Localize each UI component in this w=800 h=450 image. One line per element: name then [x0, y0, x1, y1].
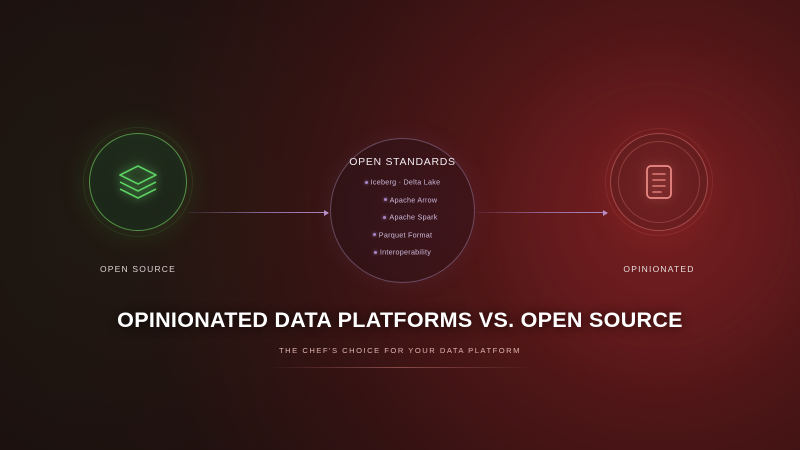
list-item[interactable]: Parquet Format — [331, 230, 474, 240]
bullet-icon — [383, 216, 386, 219]
divider — [270, 367, 530, 368]
list-item[interactable]: Apache Spark — [331, 212, 474, 222]
list-item[interactable]: Iceberg · Delta Lake — [331, 177, 474, 187]
open-standards-list: Iceberg · Delta Lake Apache Arrow Apache… — [331, 177, 474, 257]
document-icon — [644, 164, 674, 200]
page-subtitle: THE CHEF'S CHOICE FOR YOUR DATA PLATFORM — [0, 346, 800, 355]
list-item[interactable]: Apache Arrow — [331, 195, 474, 205]
node-opinionated[interactable]: OPINIONATED — [579, 133, 739, 274]
list-item-label: Iceberg · Delta Lake — [371, 178, 441, 187]
open-source-label: OPEN SOURCE — [58, 264, 218, 274]
list-item-label: Interoperability — [380, 248, 431, 257]
list-item[interactable]: Interoperability — [331, 247, 474, 257]
page-title: OPINIONATED DATA PLATFORMS VS. OPEN SOUR… — [0, 308, 800, 333]
list-item-label: Parquet Format — [379, 230, 432, 239]
connector-open-source-to-standards — [188, 212, 328, 213]
opinionated-label: OPINIONATED — [579, 264, 739, 274]
node-open-standards[interactable]: OPEN STANDARDS Iceberg · Delta Lake Apac… — [330, 138, 475, 283]
footer-text-block: OPINIONATED DATA PLATFORMS VS. OPEN SOUR… — [0, 308, 800, 368]
list-item-label: Apache Arrow — [390, 195, 438, 204]
open-source-circle — [89, 133, 187, 231]
list-item-label: Apache Spark — [389, 213, 437, 222]
bullet-icon — [374, 251, 377, 254]
node-open-source[interactable]: OPEN SOURCE — [58, 133, 218, 274]
bullet-icon — [373, 233, 376, 236]
slide-canvas: OPEN SOURCE OPEN STANDARDS Iceberg · Del… — [0, 0, 800, 450]
arrow-right-icon — [324, 210, 329, 216]
layers-icon — [116, 162, 160, 202]
bullet-icon — [365, 181, 368, 184]
bullet-icon — [384, 198, 387, 201]
opinionated-circle — [610, 133, 708, 231]
open-standards-title: OPEN STANDARDS — [331, 156, 474, 168]
